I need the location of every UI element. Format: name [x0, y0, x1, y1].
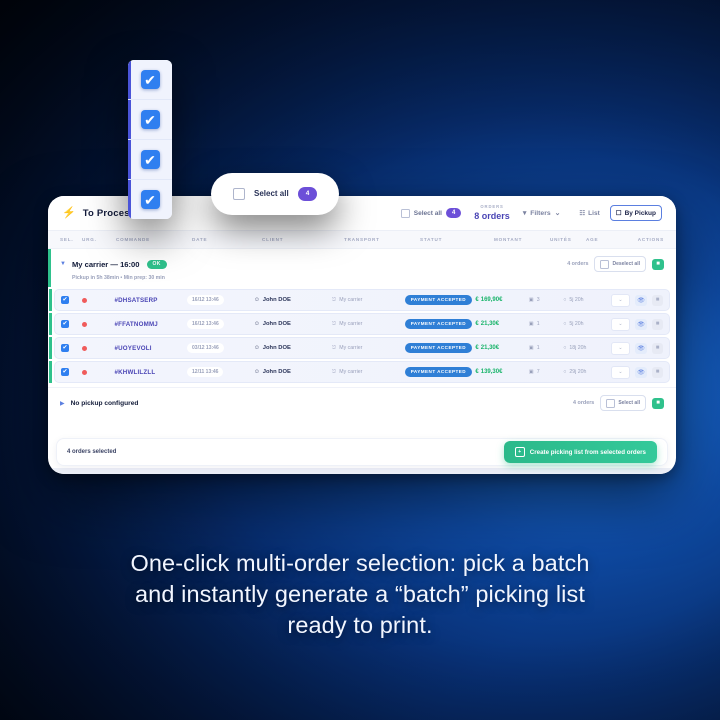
row-amount-value: 21,30€: [481, 345, 499, 351]
row-dropdown-button[interactable]: ⌄: [611, 294, 630, 307]
eye-icon[interactable]: 👁: [635, 295, 647, 306]
euro-icon: €: [475, 369, 478, 375]
row-transport-name: My carrier: [339, 345, 362, 351]
row-age-value: 5j 20h: [569, 297, 583, 303]
overlay-select-all-label: Select all: [254, 189, 289, 198]
row-print-button[interactable]: ■: [652, 343, 663, 354]
row-dropdown-button[interactable]: ⌄: [611, 342, 630, 355]
row-urgency: [82, 370, 114, 375]
overlay-checkbox-item[interactable]: ✔: [128, 60, 172, 100]
toolbar-select-all-label: Select all: [414, 210, 442, 217]
status-badge: PAYMENT ACCEPTED: [405, 367, 472, 378]
box-icon: ▣: [529, 369, 534, 375]
row-client: ☺John DOE: [254, 369, 291, 375]
chevron-down-icon: ⌄: [555, 209, 561, 217]
tab-list-view[interactable]: ☷ List: [573, 205, 605, 221]
row-actions: ⌄ 👁 ■: [611, 342, 663, 355]
row-client: ☺John DOE: [254, 321, 291, 327]
overlay-select-all-badge: 4: [298, 187, 318, 201]
orders-counter-value: 8 orders: [474, 212, 510, 221]
caption-line-2: and instantly generate a “batch” picking…: [0, 579, 720, 610]
row-units-value: 7: [537, 369, 540, 375]
column-header-commande: COMMANDE: [116, 237, 192, 242]
row-units-value: 1: [537, 321, 540, 327]
table-row[interactable]: ✔ #KHWLILZLL 12/11 13:46 ☺John DOE ⎋My c…: [54, 361, 670, 383]
row-age: ○29j 20h: [563, 369, 586, 375]
person-icon: ☺: [254, 321, 260, 327]
tab-pickup-label: By Pickup: [625, 210, 656, 217]
list-icon: ☷: [579, 209, 585, 217]
header-toolbar: Select all 4 ORDERS 8 orders ▾ Filters ⌄…: [401, 205, 662, 221]
table-row[interactable]: ✔ #FFATNOMMJ 16/12 13:46 ☺John DOE ⎋My c…: [54, 313, 670, 335]
truck-icon: ⎋: [332, 297, 336, 304]
create-picking-list-label: Create picking list from selected orders: [530, 449, 646, 456]
clock-icon: ○: [563, 345, 566, 351]
filters-button[interactable]: ▾ Filters ⌄: [523, 209, 561, 217]
table-row[interactable]: ✔ #UOYEVOLI 03/12 13:46 ☺John DOE ⎋My ca…: [54, 337, 670, 359]
row-units: ▣1: [529, 321, 540, 327]
urgency-dot-icon: [82, 322, 87, 327]
row-client-name: John DOE: [263, 369, 291, 375]
row-amount: €169,90€: [475, 297, 502, 303]
row-date: 12/11 13:46: [187, 367, 223, 377]
column-header-age: AGE: [586, 237, 636, 242]
row-print-button[interactable]: ■: [652, 367, 663, 378]
toolbar-select-all[interactable]: Select all 4: [401, 208, 462, 218]
person-icon: ☺: [254, 369, 260, 375]
column-header-actions: ACTIONS: [636, 237, 664, 242]
row-command[interactable]: #FFATNOMMJ: [114, 321, 157, 328]
row-transport: ⎋My carrier: [332, 297, 362, 304]
row-checkbox[interactable]: ✔: [61, 368, 69, 376]
person-icon: ☺: [254, 297, 260, 303]
row-age: ○5j 20h: [563, 321, 583, 327]
truck-icon: ⎋: [332, 369, 336, 376]
app-window: ⚡ To Process N Select all 4 ORDERS 8 ord…: [48, 196, 676, 474]
overlay-checkbox-item[interactable]: ✔: [128, 180, 172, 219]
group-header-no-pickup: ▶ No pickup configured 4 orders Select a…: [48, 387, 676, 418]
row-select-cell[interactable]: ✔: [61, 296, 82, 304]
toolbar-select-all-count: 4: [446, 208, 461, 218]
row-actions: ⌄ 👁 ■: [611, 294, 663, 307]
overlay-checkbox-item[interactable]: ✔: [128, 100, 172, 140]
eye-icon[interactable]: 👁: [635, 367, 647, 378]
row-amount: €21,30€: [475, 321, 499, 327]
urgency-dot-icon: [82, 370, 87, 375]
checkbox-icon[interactable]: [401, 209, 410, 218]
row-age-value: 18j 20h: [569, 345, 586, 351]
group-print-button[interactable]: ■: [652, 259, 664, 270]
euro-icon: €: [475, 345, 478, 351]
checkbox-icon: [600, 260, 609, 269]
row-amount-value: 139,30€: [481, 369, 503, 375]
filter-icon: ▾: [523, 209, 526, 217]
row-dropdown-button[interactable]: ⌄: [611, 366, 630, 379]
column-header-urg: URG.: [82, 237, 116, 242]
caption: One-click multi-order selection: pick a …: [0, 548, 720, 641]
deselect-all-label: Deselect all: [612, 261, 640, 267]
row-checkbox[interactable]: ✔: [61, 344, 69, 352]
order-rows: ✔ #DHSATSERP 16/12 13:46 ☺John DOE ⎋My c…: [48, 289, 676, 387]
table-row[interactable]: ✔ #DHSATSERP 16/12 13:46 ☺John DOE ⎋My c…: [54, 289, 670, 311]
row-amount-value: 21,30€: [481, 321, 499, 327]
expand-caret-icon[interactable]: ▶: [60, 400, 65, 407]
status-badge: PAYMENT ACCEPTED: [405, 319, 472, 330]
group-subtitle: Pickup in 5h 38min • Min prep: 30 min: [72, 275, 664, 281]
collapse-caret-icon[interactable]: ▼: [60, 261, 66, 267]
column-header-transport: TRANSPORT: [344, 237, 420, 242]
euro-icon: €: [475, 297, 478, 303]
row-select-cell[interactable]: ✔: [61, 320, 82, 328]
group2-order-count: 4 orders: [573, 400, 594, 406]
group2-title: No pickup configured: [71, 400, 139, 407]
row-units-value: 1: [537, 345, 540, 351]
urgency-dot-icon: [82, 298, 87, 303]
selection-count-label: 4 orders selected: [67, 449, 116, 455]
row-transport: ⎋My carrier: [332, 345, 362, 352]
filters-label: Filters: [530, 210, 550, 217]
row-client-name: John DOE: [263, 297, 291, 303]
view-switcher: ☷ List ☐ By Pickup: [573, 205, 662, 221]
row-command[interactable]: #UOYEVOLI: [114, 345, 151, 352]
row-command[interactable]: #KHWLILZLL: [114, 369, 155, 376]
row-age: ○5j 20h: [563, 297, 583, 303]
row-date: 03/12 13:46: [187, 343, 224, 353]
row-transport-name: My carrier: [339, 321, 362, 327]
box-icon: ▣: [529, 345, 534, 351]
row-print-button[interactable]: ■: [652, 319, 663, 330]
group2-print-button[interactable]: ■: [652, 398, 664, 409]
clock-icon: ○: [563, 297, 566, 303]
status-badge: PAYMENT ACCEPTED: [405, 295, 472, 306]
column-header-statut: STATUT: [420, 237, 494, 242]
row-age-value: 29j 20h: [569, 369, 586, 375]
orders-counter: ORDERS 8 orders: [474, 205, 510, 221]
clock-icon: ○: [563, 321, 566, 327]
euro-icon: €: [475, 321, 478, 327]
status-badge: PAYMENT ACCEPTED: [405, 343, 472, 354]
row-units: ▣1: [529, 345, 540, 351]
overlay-select-all-pill[interactable]: Select all 4: [211, 173, 339, 215]
group-header-my-carrier: ▼ My carrier — 16:00 OK 4 orders Deselec…: [48, 249, 676, 287]
row-transport-name: My carrier: [339, 297, 362, 303]
caption-line-3: ready to print.: [0, 610, 720, 641]
selection-footer: 4 orders selected + Create picking list …: [56, 438, 668, 466]
row-transport: ⎋My carrier: [332, 321, 362, 328]
row-checkbox[interactable]: ✔: [61, 320, 69, 328]
column-header-montant: MONTANT: [494, 237, 550, 242]
group-status-badge: OK: [147, 260, 167, 269]
row-age: ○18j 20h: [563, 345, 586, 351]
row-date: 16/12 13:46: [187, 319, 224, 329]
overlay-checkbox-card: ✔ ✔ ✔ ✔: [128, 60, 172, 219]
pickup-box-icon: ☐: [616, 209, 622, 217]
row-select-cell[interactable]: ✔: [61, 344, 82, 352]
row-client-name: John DOE: [263, 345, 291, 351]
overlay-checkbox[interactable]: ✔: [141, 190, 160, 209]
row-amount: €139,30€: [475, 369, 502, 375]
box-icon: ▣: [529, 321, 534, 327]
box-icon: ▣: [529, 297, 534, 303]
group-title: My carrier — 16:00: [72, 260, 140, 269]
tab-list-label: List: [588, 210, 600, 217]
row-client: ☺John DOE: [254, 297, 291, 303]
row-amount: €21,30€: [475, 345, 499, 351]
orders-counter-caption: ORDERS: [474, 205, 510, 209]
checkbox-icon: [606, 399, 615, 408]
column-header-unites: UNITÉS: [550, 237, 586, 242]
row-units-value: 3: [537, 297, 540, 303]
row-transport: ⎋My carrier: [332, 369, 362, 376]
person-icon: ☺: [254, 345, 260, 351]
row-client: ☺John DOE: [254, 345, 291, 351]
row-urgency: [82, 298, 114, 303]
row-actions: ⌄ 👁 ■: [611, 366, 663, 379]
deselect-all-button[interactable]: Deselect all: [594, 256, 646, 272]
bolt-icon: ⚡: [62, 208, 76, 219]
create-picking-list-button[interactable]: + Create picking list from selected orde…: [504, 441, 657, 463]
row-units: ▣3: [529, 297, 540, 303]
column-header-date: DATE: [192, 237, 262, 242]
overlay-checkbox-item[interactable]: ✔: [128, 140, 172, 180]
row-command[interactable]: #DHSATSERP: [114, 297, 157, 304]
row-client-name: John DOE: [263, 321, 291, 327]
column-header-sel: SEL.: [60, 237, 82, 242]
group2-select-all-label: Select all: [618, 400, 640, 406]
truck-icon: ⎋: [332, 321, 336, 328]
row-age-value: 5j 20h: [569, 321, 583, 327]
row-dropdown-button[interactable]: ⌄: [611, 318, 630, 331]
row-date: 16/12 13:46: [187, 295, 224, 305]
eye-icon[interactable]: 👁: [635, 343, 647, 354]
window-bottom-strip: [48, 468, 676, 474]
overlay-checkbox[interactable]: ✔: [141, 70, 160, 89]
row-units: ▣7: [529, 369, 540, 375]
row-transport-name: My carrier: [339, 369, 362, 375]
group-order-count: 4 orders: [567, 261, 588, 267]
checkbox-icon[interactable]: [233, 188, 245, 200]
row-print-button[interactable]: ■: [652, 295, 663, 306]
clock-icon: ○: [563, 369, 566, 375]
row-checkbox[interactable]: ✔: [61, 296, 69, 304]
caption-line-1: One-click multi-order selection: pick a …: [0, 548, 720, 579]
overlay-checkbox[interactable]: ✔: [141, 150, 160, 169]
group2-select-all-button[interactable]: Select all: [600, 395, 646, 411]
row-urgency: [82, 346, 114, 351]
overlay-checkbox[interactable]: ✔: [141, 110, 160, 129]
row-amount-value: 169,90€: [481, 297, 503, 303]
truck-icon: ⎋: [332, 345, 336, 352]
row-actions: ⌄ 👁 ■: [611, 318, 663, 331]
column-header-client: CLIENT: [262, 237, 344, 242]
urgency-dot-icon: [82, 346, 87, 351]
row-select-cell[interactable]: ✔: [61, 368, 82, 376]
picking-list-icon: +: [515, 447, 525, 457]
eye-icon[interactable]: 👁: [635, 319, 647, 330]
table-column-headers: SEL. URG. COMMANDE DATE CLIENT TRANSPORT…: [48, 231, 676, 249]
tab-pickup-view[interactable]: ☐ By Pickup: [610, 205, 662, 221]
row-urgency: [82, 322, 114, 327]
